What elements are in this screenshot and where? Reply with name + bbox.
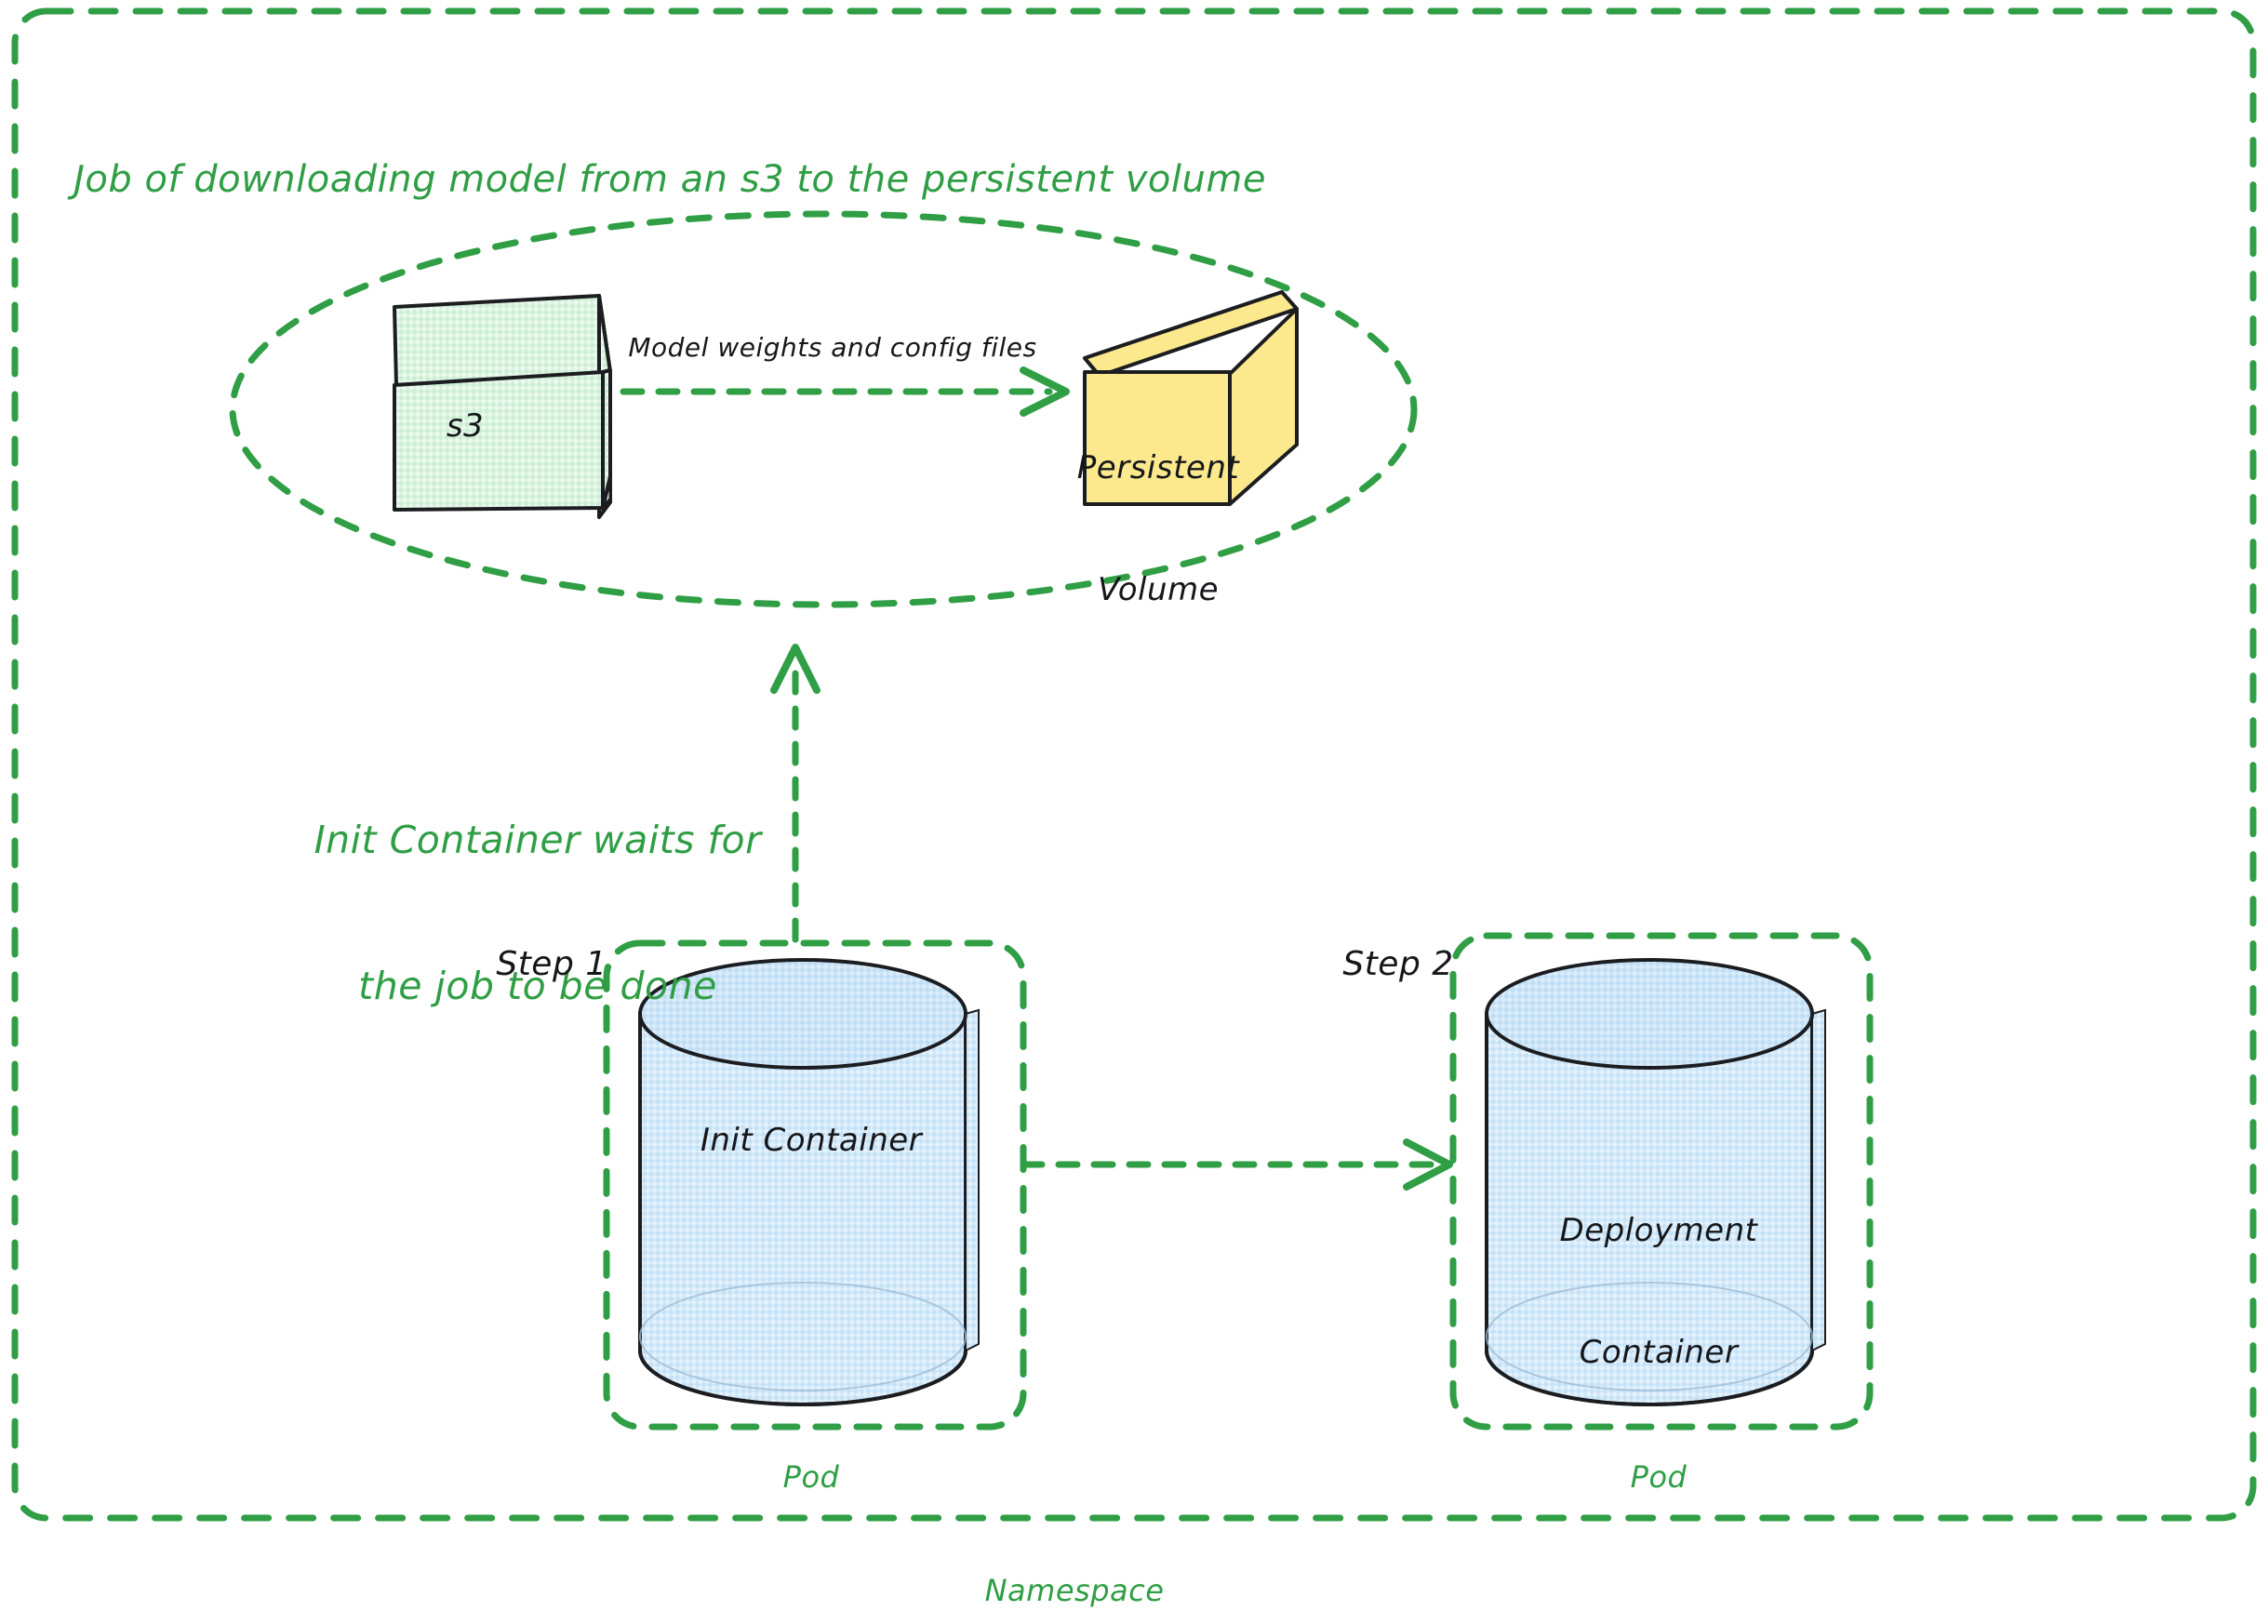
edge-s3-to-pv: [623, 370, 1066, 413]
edge-pod1-to-pod2: [1023, 1142, 1449, 1187]
diagram-canvas: Job of downloading model from an s3 to t…: [0, 0, 2268, 1624]
persistent-volume-cube: [1085, 292, 1297, 504]
init-container-cylinder: [640, 960, 979, 1404]
deployment-container-cylinder: [1487, 960, 1825, 1404]
namespace-boundary: [15, 11, 2253, 1518]
s3-cube: [394, 296, 610, 517]
diagram-svg: [0, 0, 2268, 1624]
edge-init-to-job: [774, 647, 817, 939]
